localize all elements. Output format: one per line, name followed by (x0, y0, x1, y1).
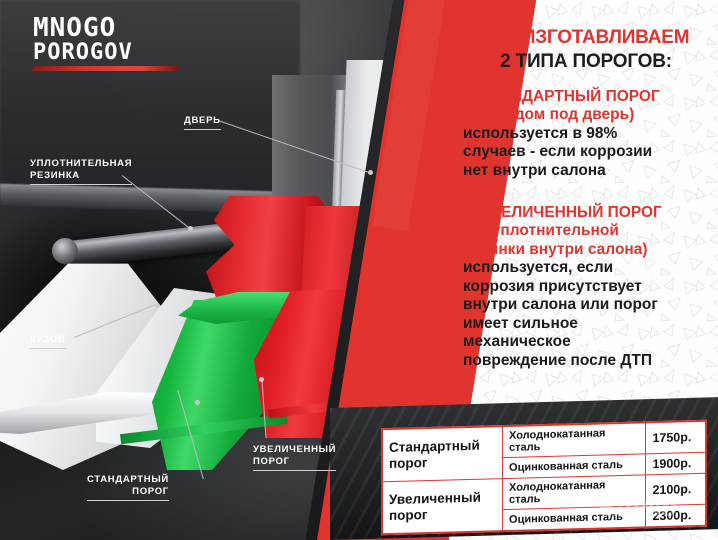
info-block-standard: 1. СТАНДАРТНЫЙ ПОРОГ (с заходом под двер… (463, 88, 713, 180)
headline-line-2: 2 ТИПА ПОРОГОВ: (460, 51, 712, 73)
block2-body-line-1: используется, если (463, 259, 713, 277)
leader-dot-door (368, 170, 373, 175)
callout-seal: УПЛОТНИТЕЛЬНАЯ РЕЗИНКА (30, 146, 132, 197)
logo-red-underline (32, 66, 180, 71)
callout-seal-underline (30, 184, 132, 185)
block2-body-line-2: коррозия присутствует (463, 278, 713, 296)
leader-dot-standard-sill (195, 400, 200, 405)
block2-subtitle-line-1: (до уплотнительной (463, 222, 713, 240)
block2-subtitle-line-2: резинки внутри салона) (463, 241, 713, 259)
block1-body-line-1: используется в 98% (463, 125, 713, 143)
callout-body-label: КУЗОВ (30, 334, 66, 345)
price-row-price-0: 1750р. (646, 421, 706, 454)
block2-body-line-6: повреждение после ДТП (463, 352, 713, 370)
brand-logo[interactable]: MNOGO POROGOV (33, 17, 178, 71)
avito-watermark-text: Avito (614, 492, 677, 522)
leader-dot-seal (188, 226, 193, 231)
leader-dot-enlarged-sill (259, 377, 264, 382)
block1-subtitle: (с заходом под дверь) (463, 106, 713, 124)
block1-body-line-2: случаев - если коррозии (463, 143, 713, 161)
rubber-seal-tube (57, 222, 239, 269)
callout-standard-sill: СТАНДАРТНЫЙ ПОРОГ (87, 462, 169, 513)
leader-dot-body (155, 303, 160, 308)
callout-door: ДВЕРЬ (184, 103, 221, 142)
avito-watermark: Avito (600, 492, 677, 523)
avito-dot-icon (600, 503, 613, 516)
callout-enlarged-sill-underline (253, 470, 336, 471)
price-row-name-standard: Стандартный порог (382, 426, 503, 482)
callout-enlarged-sill-label: УВЕЛИЧЕННЫЙ ПОРОГ (253, 444, 336, 467)
headline: МЫ ИЗГОТАВЛИВАЕМ 2 ТИПА ПОРОГОВ: (460, 28, 712, 73)
block1-body-line-3: нет внутри салона (463, 162, 713, 180)
block2-title: 2. УВЕЛИЧЕННЫЙ ПОРОГ (463, 204, 713, 222)
callout-enlarged-sill: УВЕЛИЧЕННЫЙ ПОРОГ (253, 432, 336, 483)
headline-line-1: МЫ ИЗГОТАВЛИВАЕМ (460, 28, 712, 49)
block1-title: 1. СТАНДАРТНЫЙ ПОРОГ (463, 88, 713, 106)
price-row-material-0: Холоднокатанная сталь (503, 422, 646, 457)
price-row-price-1: 1900р. (646, 452, 706, 475)
callout-door-underline (184, 129, 221, 130)
promo-image: MNOGO POROGOV ДВЕРЬ УПЛОТНИТЕЛЬНАЯ РЕЗИН… (0, 0, 718, 540)
info-block-enlarged: 2. УВЕЛИЧЕННЫЙ ПОРОГ (до уплотнительной … (463, 204, 713, 370)
price-row-name-enlarged: Увеличенный порог (382, 479, 503, 535)
logo-line-2: POROGOV (33, 43, 178, 63)
callout-standard-sill-underline (87, 500, 169, 501)
logo-line-1: MNOGO (33, 17, 178, 41)
callout-standard-sill-label: СТАНДАРТНЫЙ ПОРОГ (87, 474, 169, 497)
callout-door-label: ДВЕРЬ (184, 115, 221, 126)
callout-body-underline (30, 348, 66, 349)
block2-body-line-5: механическое (463, 333, 713, 351)
block2-body-line-3: внутри салона или порог (463, 296, 713, 314)
callout-seal-label: УПЛОТНИТЕЛЬНАЯ РЕЗИНКА (30, 158, 132, 181)
block2-body-line-4: имеет сильное (463, 315, 713, 333)
callout-body: КУЗОВ (30, 322, 66, 361)
